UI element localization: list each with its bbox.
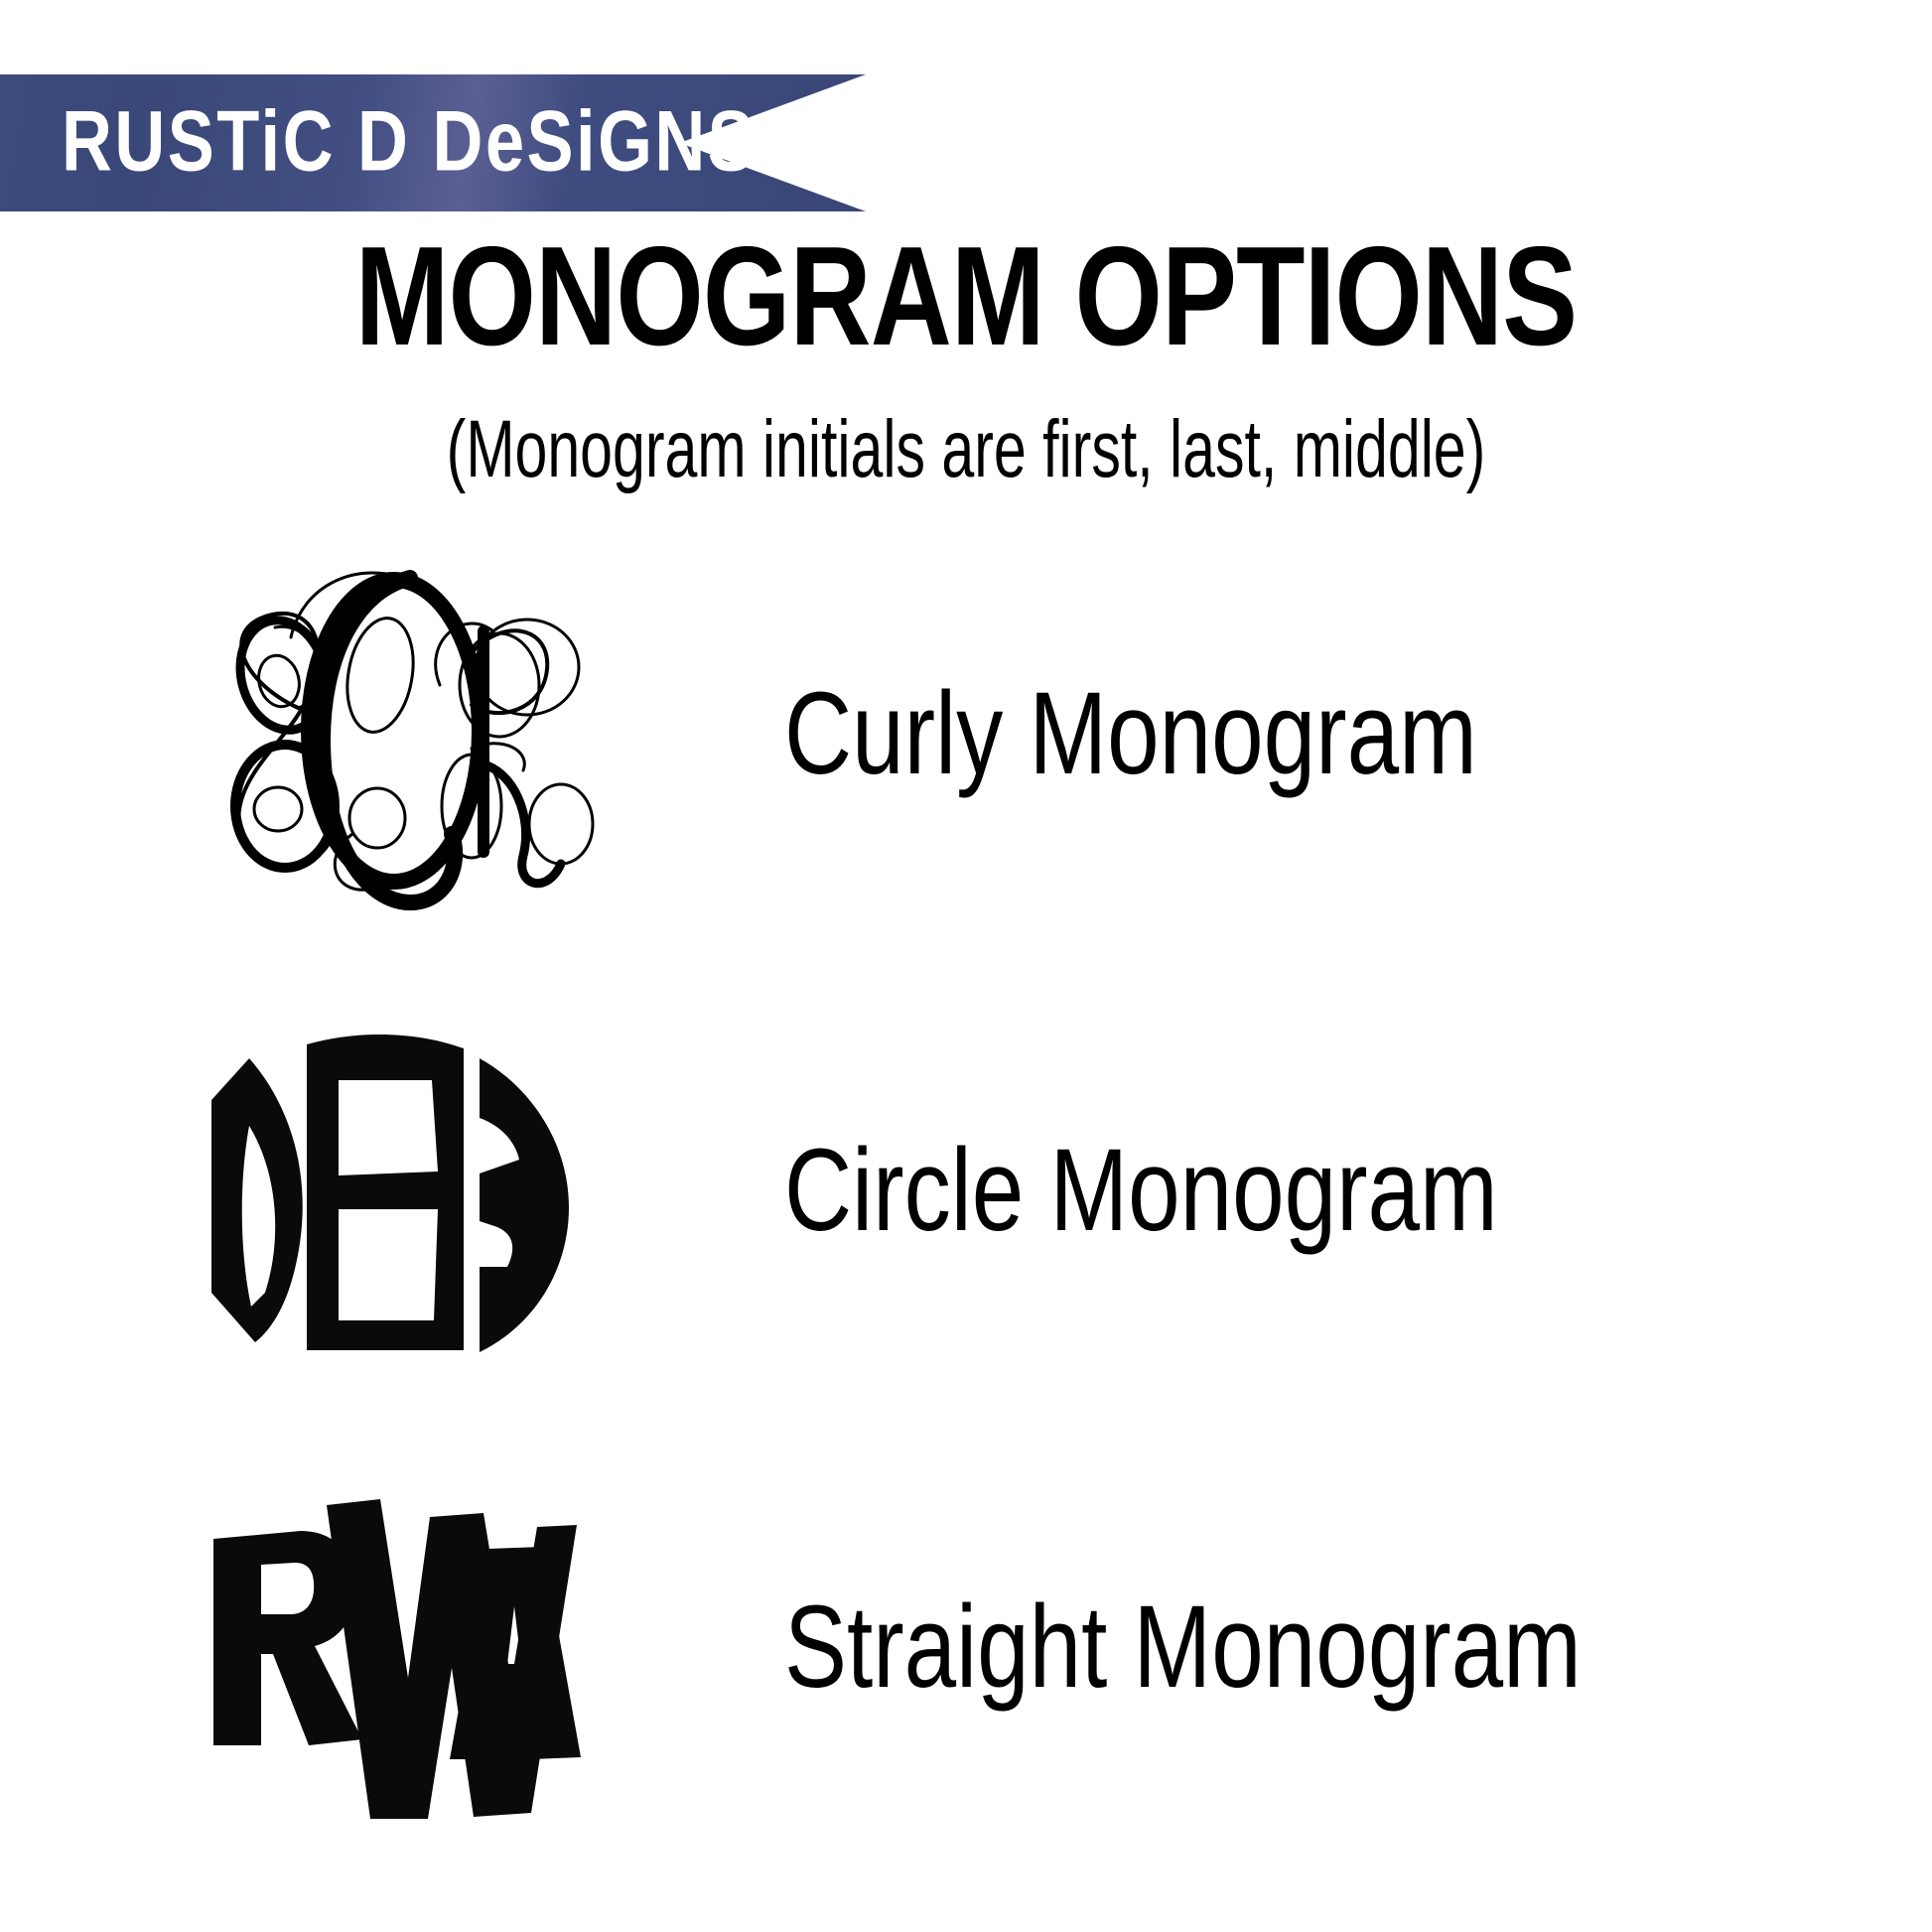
brand-banner: RUSTiC D DeSiGNS [0, 74, 866, 211]
option-row-straight: Straight Monogram [0, 1449, 1932, 1847]
curly-monogram-sample [0, 536, 784, 933]
page-subtitle: (Monogram initials are first, last, midd… [270, 409, 1661, 490]
straight-monogram-sample [0, 1469, 784, 1827]
curly-monogram-icon [174, 536, 611, 933]
option-row-circle: Circle Monogram [0, 993, 1932, 1390]
brand-name: RUSTiC D DeSiGNS [62, 98, 757, 184]
page-title: MONOGRAM OPTIONS [194, 226, 1739, 367]
curly-monogram-label: Curly Monogram [784, 673, 1703, 796]
straight-monogram-label: Straight Monogram [784, 1587, 1703, 1710]
circle-monogram-sample [0, 1023, 784, 1360]
straight-monogram-icon [204, 1469, 581, 1827]
circle-monogram-label: Circle Monogram [784, 1130, 1703, 1253]
option-row-curly: Curly Monogram [0, 536, 1932, 933]
circle-monogram-icon [204, 1023, 581, 1360]
